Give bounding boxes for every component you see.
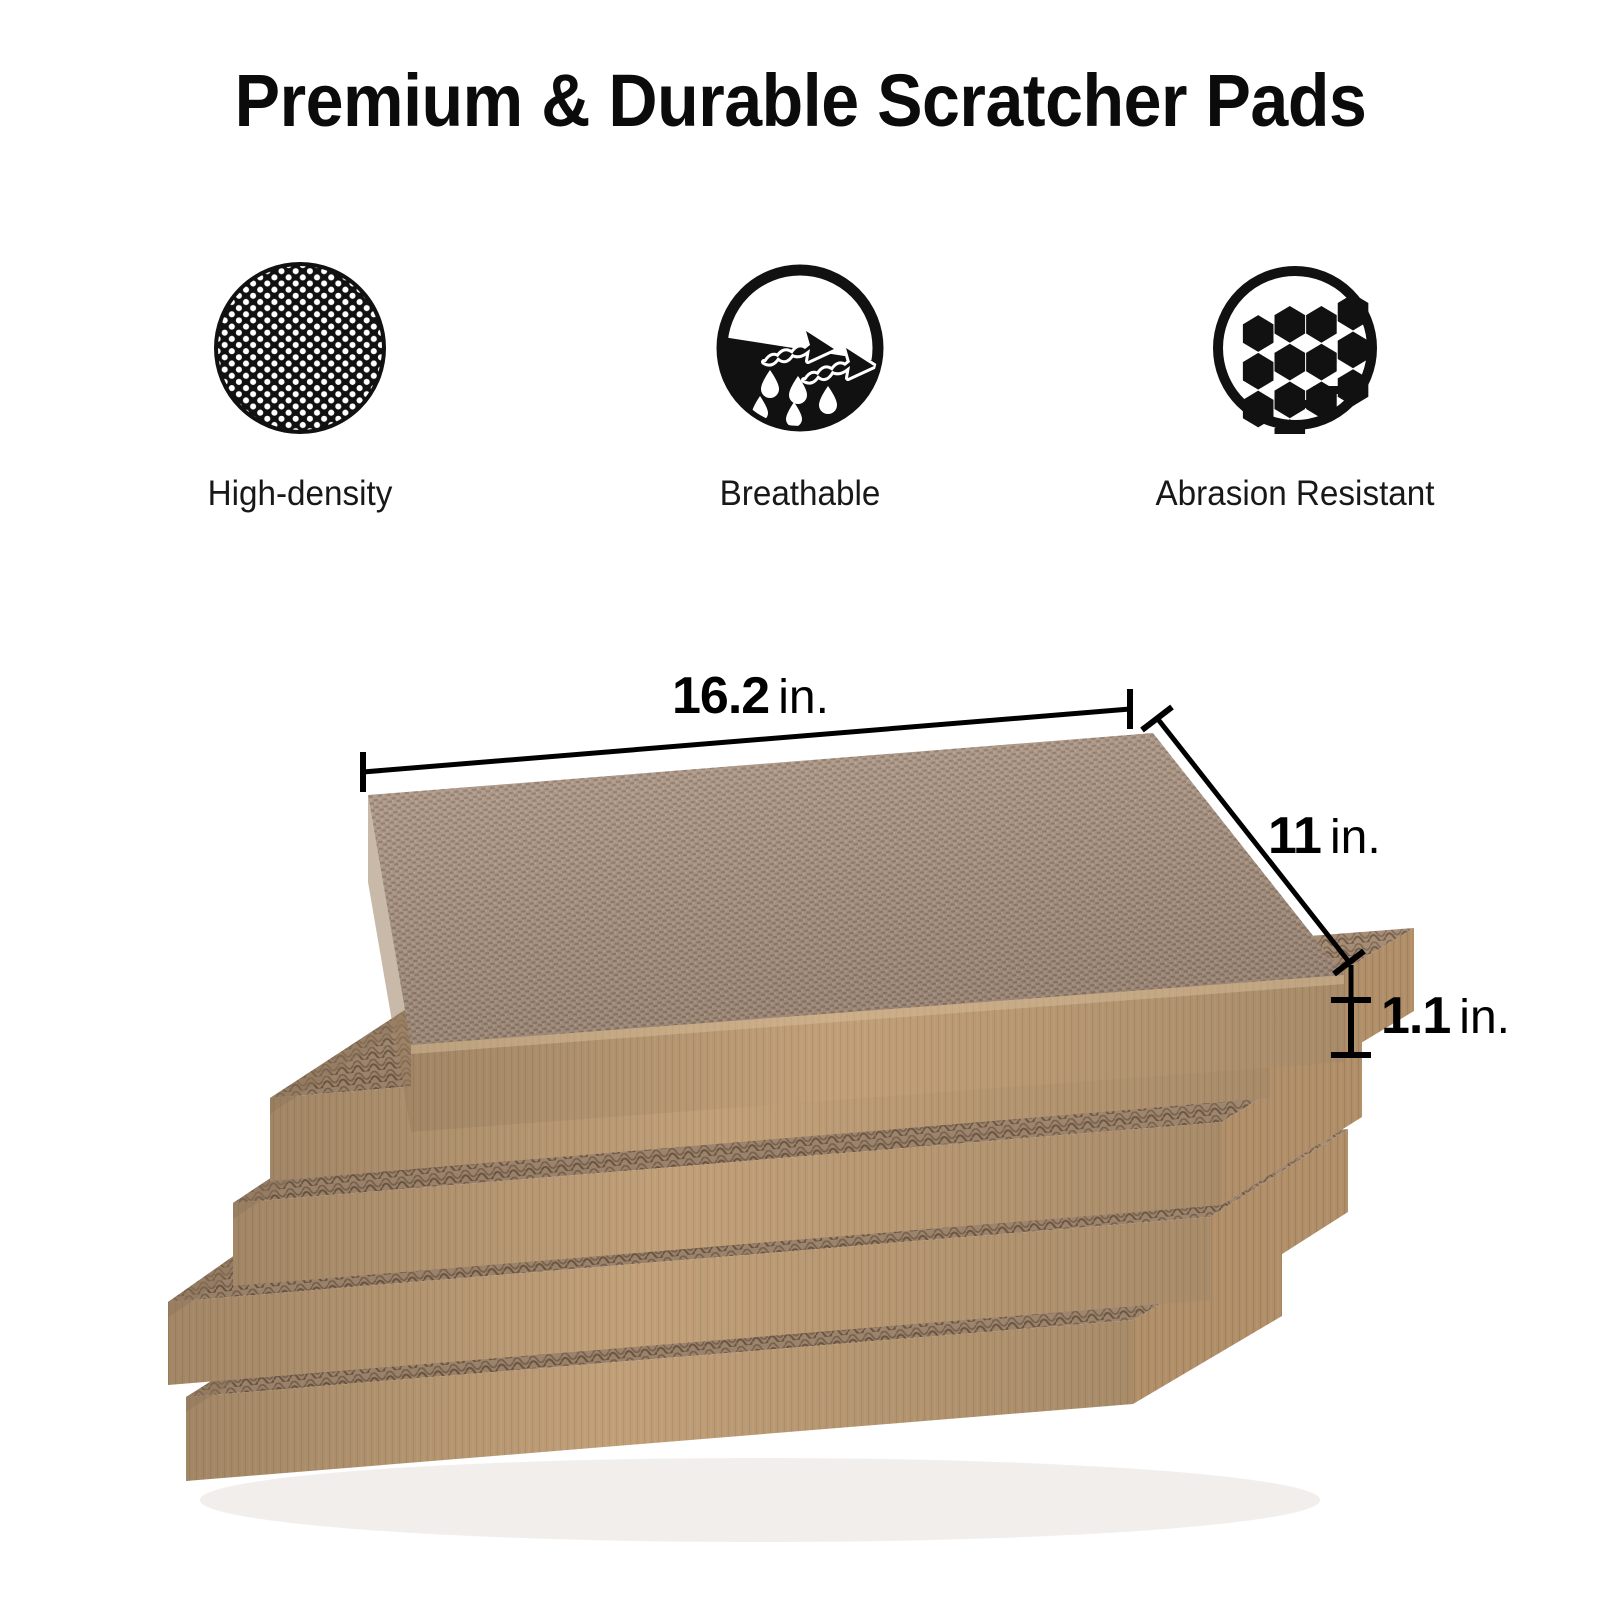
feature-row: High-density xyxy=(0,262,1601,562)
feature-label-abrasion-resistant: Abrasion Resistant xyxy=(1134,474,1457,514)
dimension-value-height: 1.1 xyxy=(1381,987,1450,1045)
pad-2 xyxy=(270,928,1414,1181)
product-image-scratcher-pad-stack xyxy=(0,0,1601,1601)
feature-high-density: High-density xyxy=(130,262,470,514)
pad-1-top xyxy=(368,716,1345,1132)
dimension-value-width: 16.2 xyxy=(672,667,769,725)
dimension-lines xyxy=(363,689,1371,1055)
dimension-line-height xyxy=(1331,965,1371,1055)
dimension-unit-height: in. xyxy=(1459,991,1510,1044)
high-density-dots-icon xyxy=(214,262,386,434)
dimension-unit-width: in. xyxy=(778,671,829,724)
breathable-airflow-icon xyxy=(714,262,886,434)
dimension-label-width: 16.2in. xyxy=(672,670,829,722)
feature-label-breathable: Breathable xyxy=(639,474,962,514)
infographic-canvas: Premium & Durable Scratcher Pads xyxy=(0,0,1601,1601)
pad-5 xyxy=(186,1232,1282,1481)
dimension-label-height: 1.1in. xyxy=(1381,990,1510,1042)
feature-label-high-density: High-density xyxy=(139,474,462,514)
pad-4 xyxy=(168,1129,1348,1385)
feature-abrasion-resistant: Abrasion Resistant xyxy=(1125,262,1465,514)
abrasion-resistant-honeycomb-icon xyxy=(1209,262,1381,434)
dimension-unit-depth: in. xyxy=(1330,811,1381,864)
pad-3 xyxy=(233,1034,1362,1286)
dimension-value-depth: 11 xyxy=(1268,807,1321,865)
page-title: Premium & Durable Scratcher Pads xyxy=(64,58,1537,143)
dimension-label-depth: 11in. xyxy=(1268,810,1381,862)
feature-breathable: Breathable xyxy=(630,262,970,514)
